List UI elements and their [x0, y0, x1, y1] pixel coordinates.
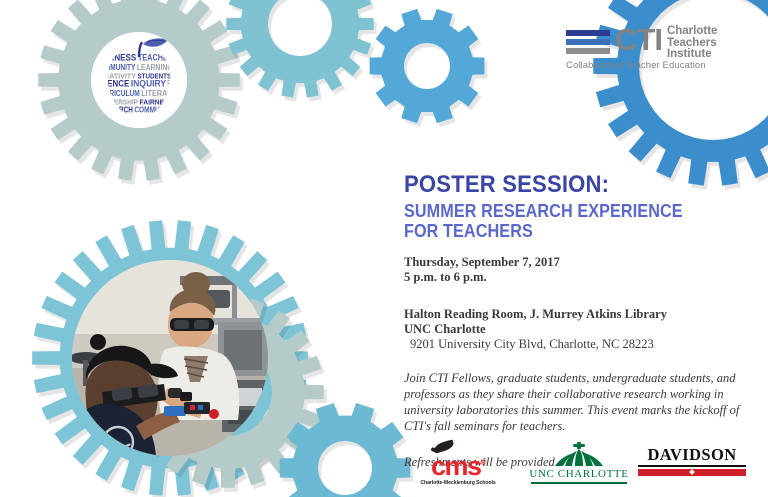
event-schedule: Thursday, September 7, 2017 5 p.m. to 6 … — [404, 255, 754, 285]
sponsor-logo-davidson: DAVIDSON — [630, 446, 754, 476]
sponsor-logo-cms: cms® Charlotte-Mecklenburg Schools — [404, 442, 512, 487]
poster-canvas: CHARLOTTELEADERSHIPFAIRNESSTEACHERSRESEA… — [0, 0, 768, 497]
davidson-accent-bar — [638, 469, 746, 476]
gear-top-small-blue — [370, 9, 485, 123]
event-description: Join CTI Fellows, graduate students, und… — [404, 370, 754, 434]
cti-bar-2 — [566, 39, 610, 45]
sponsor-logo-unc-charlotte: UNC CHARLOTTE — [520, 442, 638, 484]
cti-logo-wordmark: Charlotte Teachers Institute — [667, 24, 717, 61]
apple-word-cloud: CHARLOTTELEADERSHIPFAIRNESSTEACHERSRESEA… — [91, 32, 187, 128]
event-time: 5 p.m. to 6 p.m. — [404, 270, 754, 285]
word-cloud-word: CHARLOTTE — [179, 89, 183, 98]
word-cloud-word: FELLOWS — [168, 79, 184, 89]
word-cloud-word: SEMINARS — [173, 72, 184, 81]
gear-top-mid-teal-shadow — [229, 0, 377, 102]
word-cloud-word: SCIENCE — [134, 124, 162, 129]
apple-word-cloud-shape: CHARLOTTELEADERSHIPFAIRNESSTEACHERSRESEA… — [91, 32, 187, 128]
page-title: POSTER SESSION: — [404, 172, 726, 198]
word-cloud-word: TEACHERS — [138, 53, 178, 63]
event-venue: Halton Reading Room, J. Murrey Atkins Li… — [404, 307, 754, 352]
cti-logo-bars — [566, 24, 610, 54]
word-cloud-word: INQUIRY — [163, 124, 177, 129]
gear-bottom-blue-shadow — [283, 407, 414, 497]
word-cloud-word: STUDENTS — [165, 116, 179, 123]
word-cloud-word: TEACHERS — [175, 98, 182, 107]
cti-bar-1 — [566, 30, 610, 36]
sponsor-logos: cms® Charlotte-Mecklenburg Schools — [398, 440, 758, 488]
cti-bar-3 — [566, 48, 610, 54]
word-cloud-word: RESEARCH — [97, 106, 133, 115]
uncc-wordmark: UNC CHARLOTTE — [520, 468, 638, 480]
cti-logo-name-line3: Institute — [667, 49, 717, 61]
event-date: Thursday, September 7, 2017 — [404, 255, 754, 270]
cms-subtitle: Charlotte-Mecklenburg Schools — [404, 480, 512, 487]
lab-photo-illustration — [72, 260, 268, 456]
venue-address: 9201 University City Blvd, Charlotte, NC… — [404, 337, 754, 352]
davidson-rule — [638, 465, 746, 467]
word-cloud-word: EQUITY — [99, 116, 123, 123]
venue-room: Halton Reading Room, J. Murrey Atkins Li… — [404, 307, 754, 322]
uncc-rule — [531, 482, 627, 484]
cti-logo-tagline: Collaborative Teacher Education — [566, 60, 706, 71]
cti-logo: CTI Charlotte Teachers Institute Collabo… — [566, 24, 717, 61]
cms-wordmark-text: cms — [431, 451, 481, 481]
apple-word-cloud-svg: CHARLOTTELEADERSHIPFAIRNESSTEACHERSRESEA… — [91, 32, 187, 128]
davidson-wordmark: DAVIDSON — [630, 446, 754, 464]
page-subtitle: SUMMER RESEARCH EXPERIENCE FOR TEACHERS — [404, 201, 719, 241]
word-cloud-word: COMMUNITY — [134, 106, 175, 115]
gear-top-mid-teal — [226, 0, 374, 98]
gear-top-small-blue-shadow — [373, 13, 488, 127]
lab-photo — [72, 260, 268, 456]
word-cloud-word: RESEARCH — [180, 53, 182, 63]
word-cloud-word: SCIENCE — [94, 79, 129, 89]
word-cloud-word: INQUIRY — [131, 79, 166, 89]
word-cloud-word: SEMINARS — [101, 124, 133, 129]
uncc-crown-icon — [520, 442, 638, 468]
word-cloud-word: LEARNING — [176, 106, 181, 115]
cms-registered-mark: ® — [481, 458, 485, 467]
gear-bottom-blue — [280, 403, 411, 497]
word-cloud-word: FAIRNESS — [96, 53, 136, 63]
cti-logo-mark: CTI — [615, 24, 662, 55]
word-cloud-word: CREATIVITY — [124, 116, 164, 123]
venue-campus: UNC Charlotte — [404, 322, 754, 337]
poster-content: POSTER SESSION: SUMMER RESEARCH EXPERIEN… — [404, 172, 754, 470]
cti-logo-name-line1: Charlotte — [667, 26, 717, 38]
cms-wordmark: cms® — [404, 442, 512, 480]
word-cloud-word: EQUITY — [174, 63, 183, 72]
